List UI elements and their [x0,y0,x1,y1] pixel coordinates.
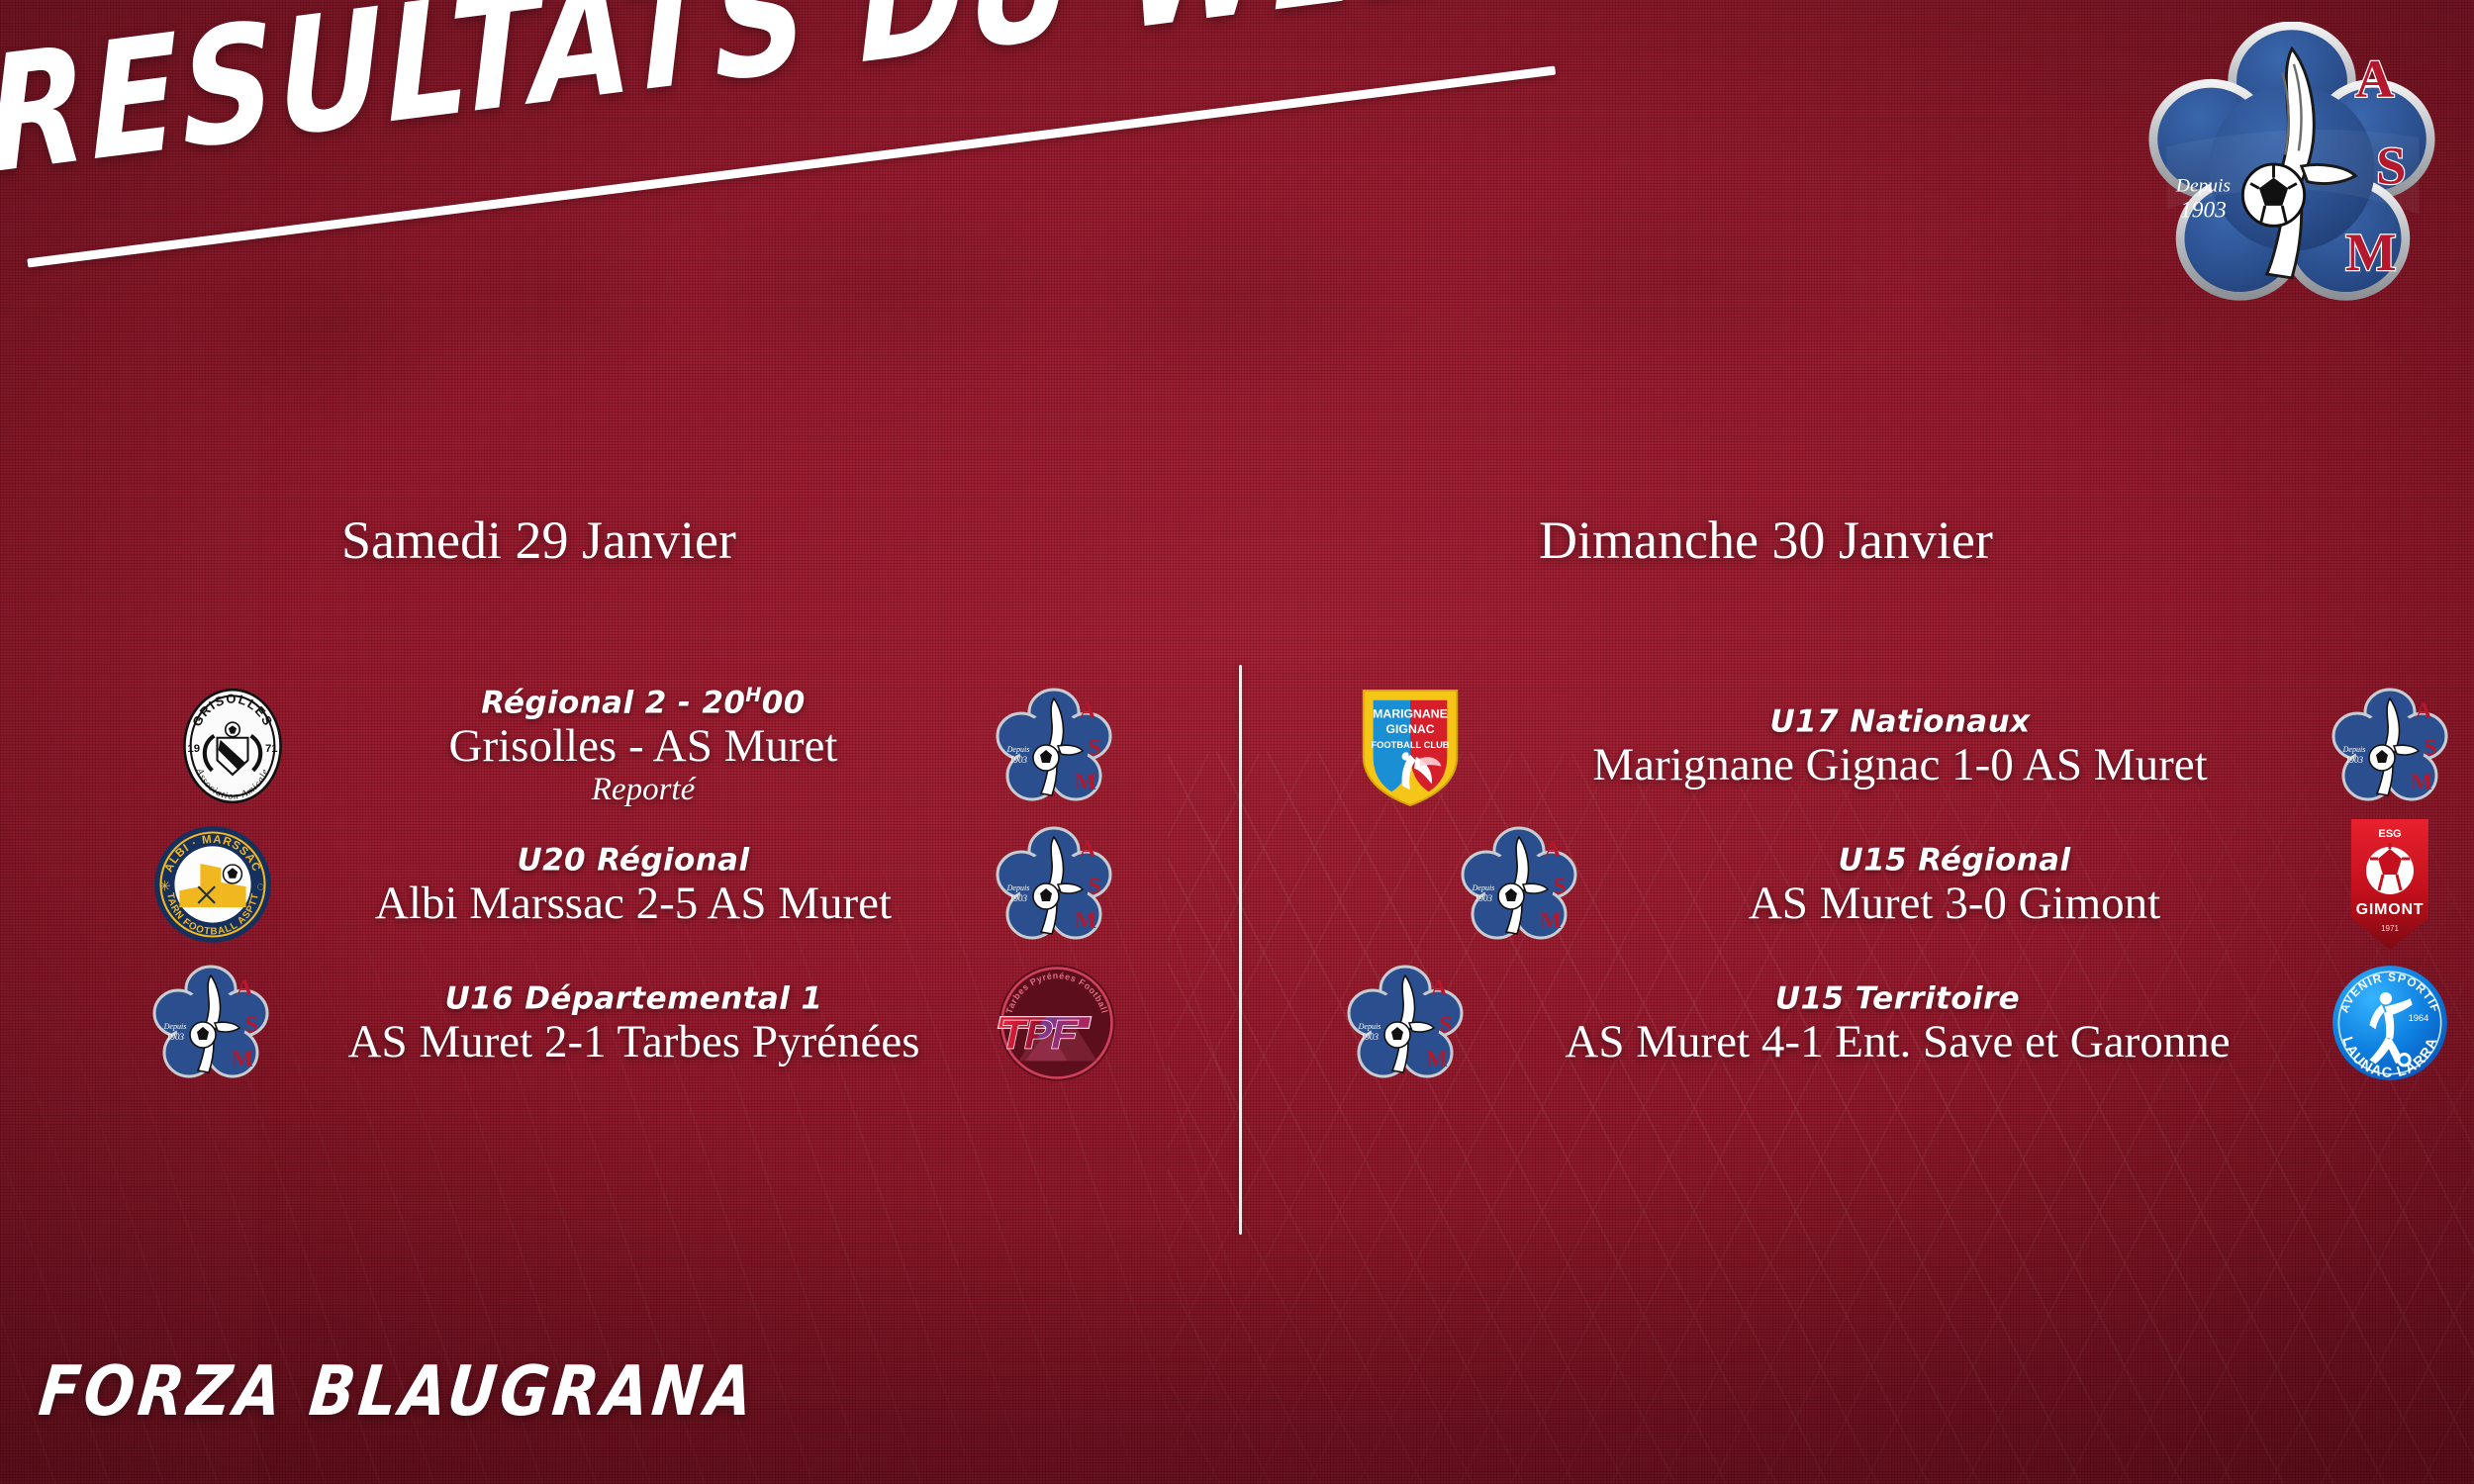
competition-label: U16 Départemental 1 [445,979,823,1016]
svg-text:M: M [1426,1047,1448,1071]
as-muret-logo: Depuis 1903 ASM [990,682,1118,810]
svg-text:ESG: ESG [2378,828,2401,840]
marignane-gignac-logo: MARIGNANE GIGNAC FOOTBALL CLUB [1346,682,1475,810]
svg-text:S: S [245,1012,258,1037]
svg-text:◌: ◌ [256,879,264,893]
svg-text:1903: 1903 [2180,198,2227,224]
svg-text:Depuis: Depuis [1006,883,1030,892]
svg-text:A: A [1080,698,1096,723]
svg-text:1903: 1903 [166,1032,185,1042]
match-row: GRISOLLES Association Amicale 19 71 Régi… [168,679,1118,813]
as-muret-logo: Depuis 1903 ASM [146,959,275,1087]
svg-text:Depuis: Depuis [163,1022,187,1031]
match-detail: Régional 2 - 20H00 Grisolles - AS Muret … [297,684,990,809]
svg-text:M: M [1540,908,1562,933]
match-result: Albi Marssac 2-5 AS Muret [375,880,892,928]
day-header-saturday: Samedi 29 Janvier [341,510,736,571]
match-result: AS Muret 4-1 Ent. Save et Garonne [1565,1018,2230,1067]
grisolles-logo: GRISOLLES Association Amicale 19 71 [168,682,297,810]
match-result: AS Muret 3-0 Gimont [1749,880,2160,928]
match-detail: U17 Nationaux Marignane Gignac 1-0 AS Mu… [1475,702,2326,790]
match-row: Depuis 1903 ASM U15 Territoire AS Muret … [1341,956,2454,1090]
svg-text:1903: 1903 [1009,893,1028,903]
svg-text:S: S [1554,874,1567,898]
svg-text:A: A [1080,837,1096,862]
svg-text:M: M [232,1047,253,1071]
match-result: Marignane Gignac 1-0 AS Muret [1592,741,2207,789]
svg-text:1903: 1903 [2345,755,2364,765]
svg-text:1971: 1971 [2381,924,2399,933]
svg-text:Depuis: Depuis [1006,745,1030,754]
svg-text:MARIGNANE: MARIGNANE [1373,706,1448,720]
day-header-sunday: Dimanche 30 Janvier [1539,510,1993,571]
svg-text:A: A [1431,975,1448,1000]
svg-text:GIGNAC: GIGNAC [1385,722,1434,736]
as-muret-logo: Depuis 1903 ASM [1455,820,1583,949]
svg-text:S: S [1089,874,1101,898]
results-poster: RESULTATS DU WEEK-END [0,0,2474,1484]
football-icon [2242,164,2304,226]
svg-text:✳: ✳ [159,879,171,894]
match-row: Depuis 1903 ASM U16 Départemental 1 AS M… [146,956,1121,1090]
svg-text:S: S [1440,1012,1453,1037]
match-result: AS Muret 2-1 Tarbes Pyrénées [348,1018,920,1067]
svg-text:M: M [1075,770,1096,794]
gimont-logo: ESG GIMONT 1971 [2326,820,2454,949]
as-muret-logo: Depuis 1903 ASM [1341,959,1470,1087]
svg-text:A: A [1545,837,1562,862]
as-muret-logo: Depuis 1903 ASM [990,820,1118,949]
competition-label: U20 Régional [518,841,750,878]
svg-text:M: M [2345,222,2396,282]
column-divider [1239,665,1242,1235]
match-row: ALBI · MARSSAC TARN FOOTBALL ASPTT ✳ ◌ U… [148,817,1118,952]
match-detail: U20 Régional Albi Marssac 2-5 AS Muret [277,841,990,929]
competition-label: U17 Nationaux [1770,702,2031,739]
svg-text:71: 71 [265,743,278,755]
match-result: Grisolles - AS Muret [449,722,838,771]
competition-label: U15 Territoire [1775,979,2020,1016]
svg-text:M: M [1075,908,1096,933]
svg-text:Depuis: Depuis [2342,745,2366,754]
svg-text:A: A [2416,698,2432,723]
albi-marssac-logo: ALBI · MARSSAC TARN FOOTBALL ASPTT ✳ ◌ [148,820,277,949]
footer-slogan: FORZA BLAUGRANA [36,1351,761,1432]
svg-text:A: A [237,975,253,1000]
svg-text:1964: 1964 [2409,1013,2429,1023]
match-note: Reporté [592,772,695,808]
match-detail: U15 Territoire AS Muret 4-1 Ent. Save et… [1470,979,2326,1067]
svg-text:Depuis: Depuis [1358,1022,1381,1031]
match-detail: U15 Régional AS Muret 3-0 Gimont [1583,841,2326,929]
match-detail: U16 Départemental 1 AS Muret 2-1 Tarbes … [275,979,993,1067]
svg-text:A: A [2355,48,2394,109]
launac-larra-logo: AVENIR SPORTIF LAUNAC LARRA 1964 [2326,959,2454,1087]
tarbes-pyrenees-football-logo: Tarbes Pyrénées Football TPF [993,959,1121,1087]
as-muret-crest: Depuis 1903 A S M [2147,22,2436,311]
as-muret-logo: Depuis 1903 ASM [2326,682,2454,810]
svg-text:Depuis: Depuis [2175,175,2231,196]
competition-label: U15 Régional [1839,841,2071,878]
svg-text:GIMONT: GIMONT [2356,901,2425,918]
svg-text:19: 19 [187,743,200,755]
svg-text:M: M [2411,770,2432,794]
svg-text:TPF: TPF [997,1012,1082,1057]
svg-text:1903: 1903 [1361,1032,1380,1042]
match-row: MARIGNANE GIGNAC FOOTBALL CLUB U17 Natio… [1346,679,2454,813]
svg-text:FOOTBALL CLUB: FOOTBALL CLUB [1371,740,1449,750]
svg-text:S: S [2376,136,2406,196]
svg-text:S: S [2425,735,2437,760]
competition-label: Régional 2 - 20H00 [481,684,805,720]
svg-text:1903: 1903 [1475,893,1493,903]
svg-text:S: S [1089,735,1101,760]
svg-text:Depuis: Depuis [1472,883,1495,892]
svg-text:1903: 1903 [1009,755,1028,765]
match-row: Depuis 1903 ASM U15 Régional AS Muret 3-… [1455,817,2454,952]
